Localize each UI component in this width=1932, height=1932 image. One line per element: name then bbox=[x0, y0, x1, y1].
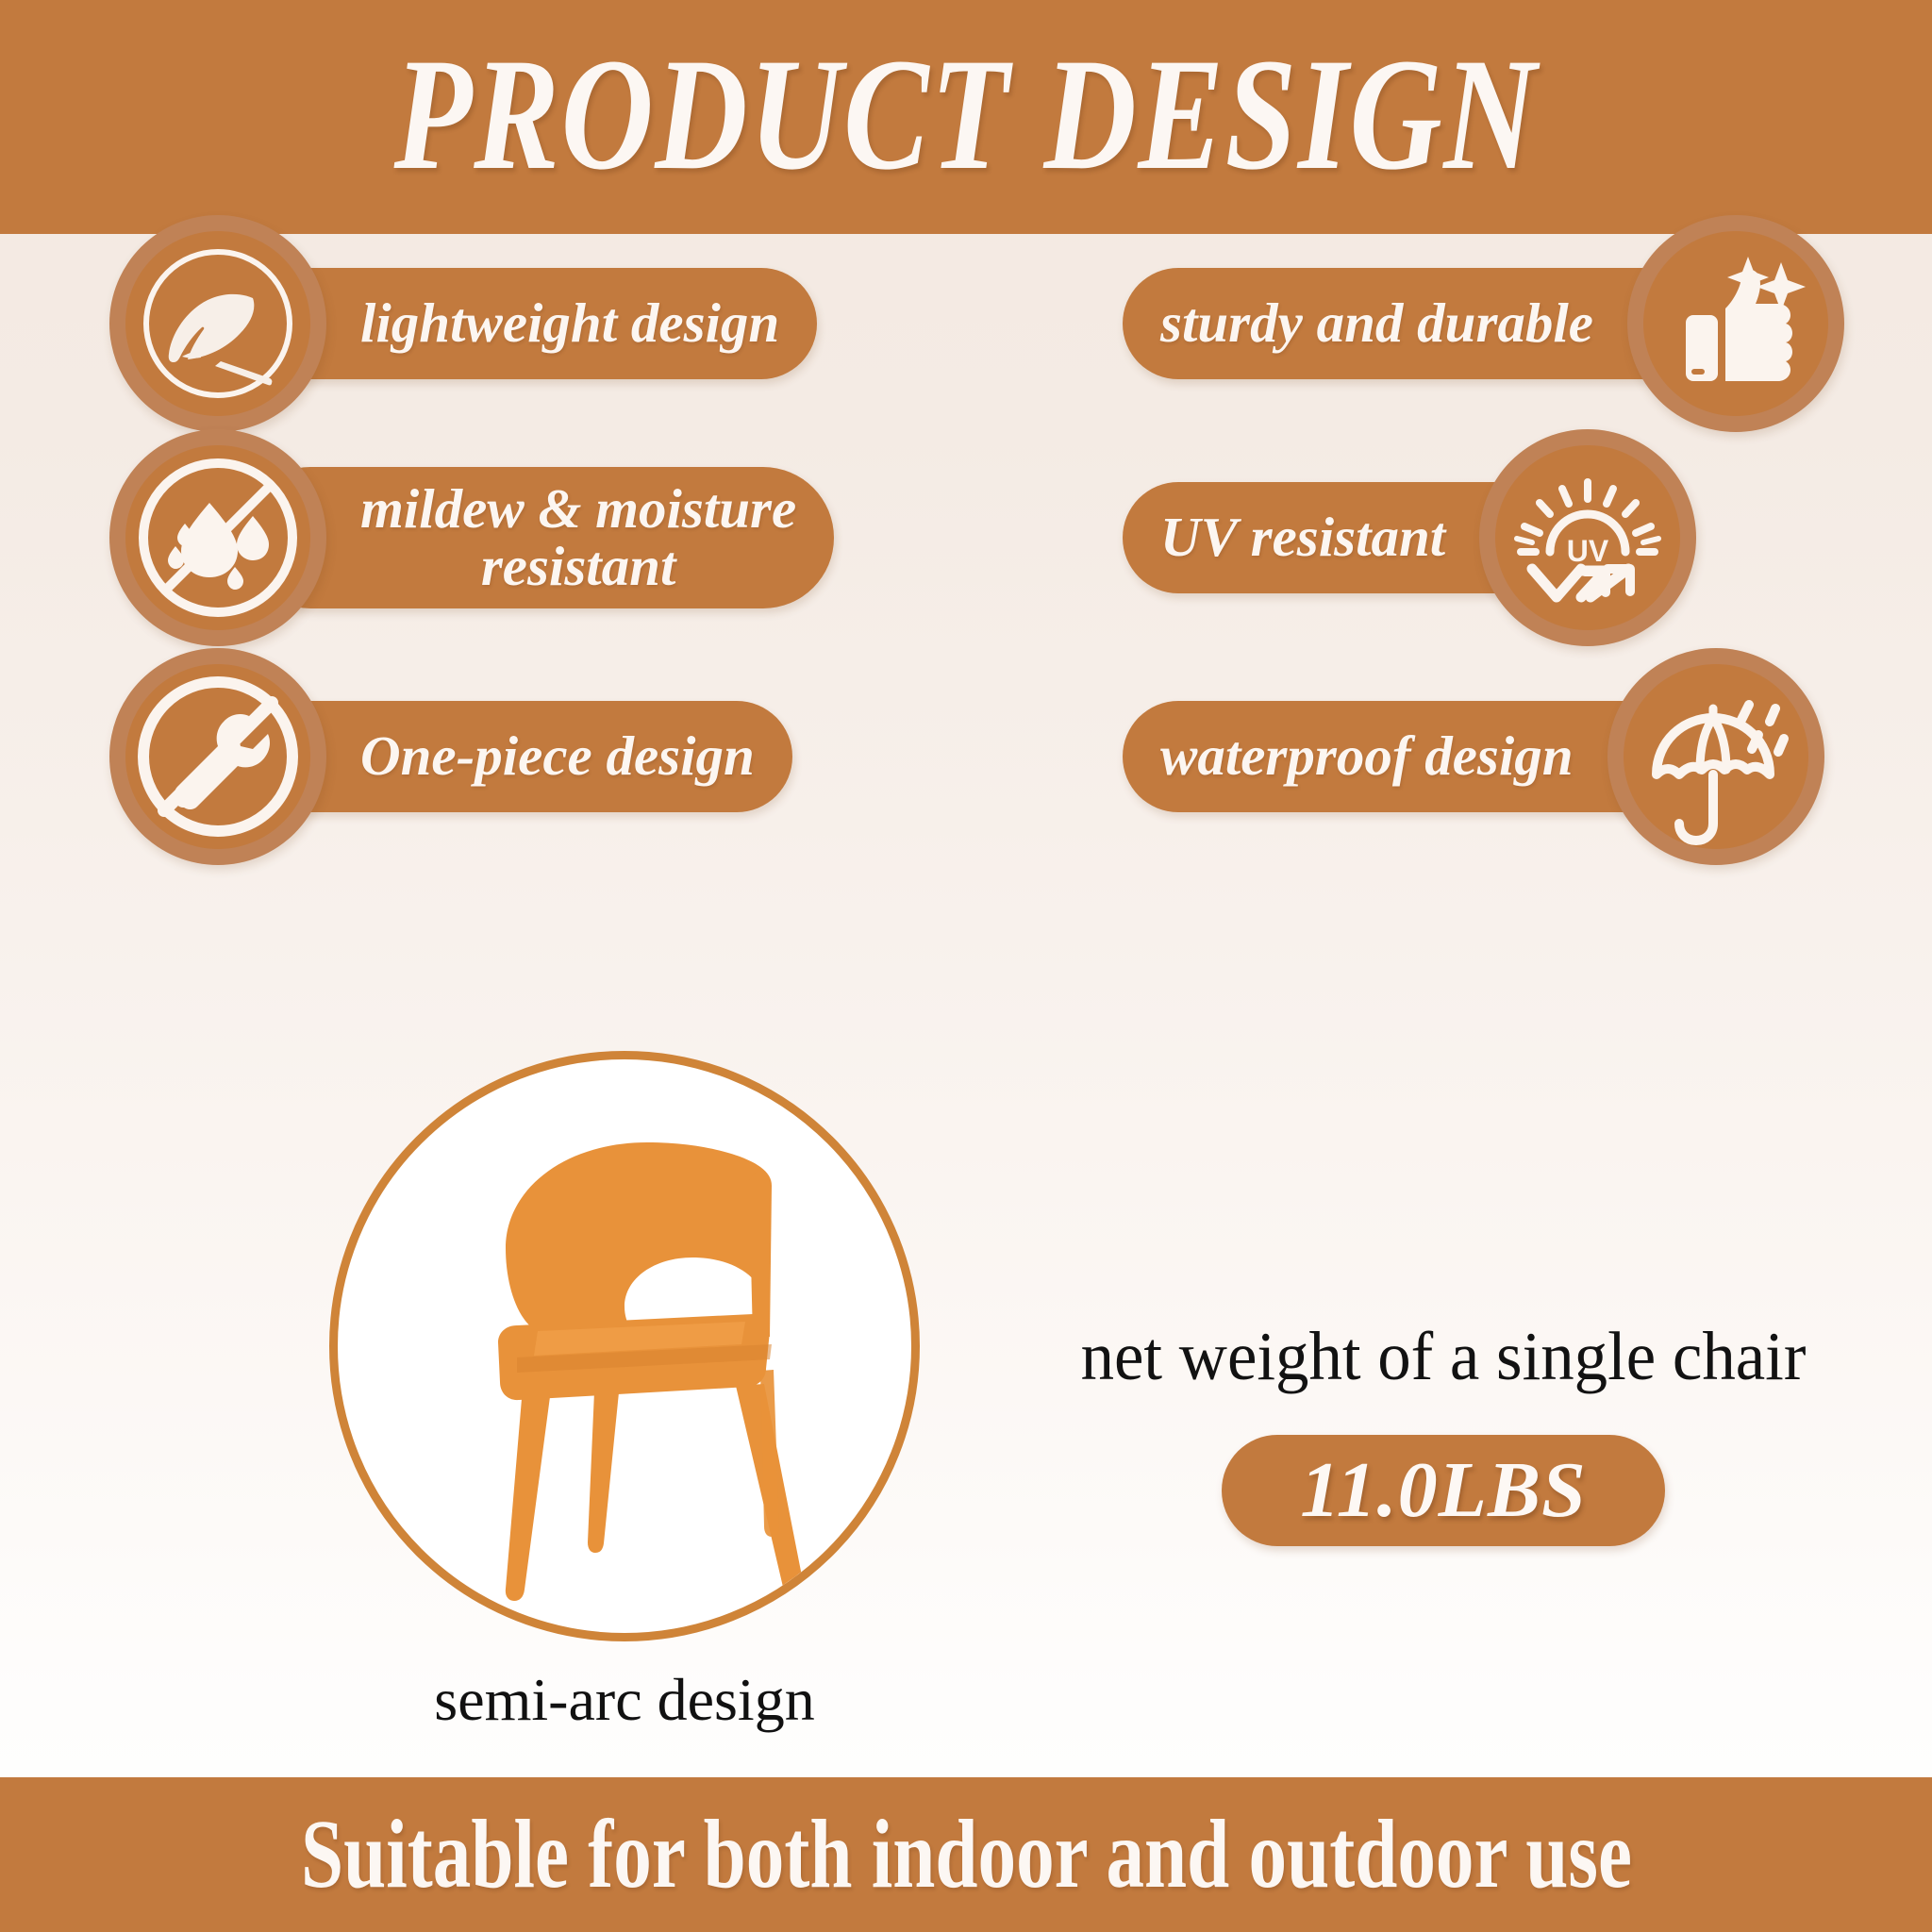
feature-mildew-moisture-resistant[interactable]: mildew & moisture resistant bbox=[109, 429, 834, 646]
orange-plastic-chair bbox=[379, 1088, 870, 1616]
uv-sun-icon: UV bbox=[1479, 429, 1696, 646]
net-weight-value: 11.0LBS bbox=[1300, 1451, 1586, 1530]
net-weight-caption: net weight of a single chair bbox=[1013, 1321, 1874, 1393]
infographic-page: PRODUCT DESIGN lightweight design bbox=[0, 0, 1932, 1932]
feature-label: mildew & moisture resistant bbox=[360, 480, 796, 596]
header-banner: PRODUCT DESIGN bbox=[0, 0, 1932, 234]
feature-sturdy-and-durable[interactable]: sturdy and durable bbox=[1123, 215, 1844, 432]
product-image-caption: semi-arc design bbox=[329, 1670, 920, 1730]
uv-label: UV bbox=[1567, 534, 1609, 568]
no-moisture-icon bbox=[109, 429, 326, 646]
feature-label: waterproof design bbox=[1160, 727, 1574, 785]
feature-waterproof-design[interactable]: waterproof design bbox=[1123, 648, 1824, 865]
footer-tagline: Suitable for both indoor and outdoor use bbox=[301, 1806, 1632, 1904]
feature-pill-sturdy[interactable]: sturdy and durable bbox=[1123, 268, 1714, 379]
feather-icon bbox=[109, 215, 326, 432]
feature-pill-mildew[interactable]: mildew & moisture resistant bbox=[240, 467, 834, 608]
feature-one-piece-design[interactable]: One-piece design bbox=[109, 648, 792, 865]
net-weight-block: net weight of a single chair 11.0LBS bbox=[1000, 1321, 1887, 1546]
feature-label: One-piece design bbox=[360, 727, 755, 785]
feature-uv-resistant[interactable]: UV UV resistant bbox=[1123, 429, 1696, 646]
page-title: PRODUCT DESIGN bbox=[394, 34, 1539, 194]
feature-lightweight-design[interactable]: lightweight design bbox=[109, 215, 817, 432]
net-weight-badge: 11.0LBS bbox=[1222, 1435, 1665, 1546]
footer-banner: Suitable for both indoor and outdoor use bbox=[0, 1777, 1932, 1932]
product-image-circle bbox=[329, 1051, 920, 1641]
feature-label: sturdy and durable bbox=[1160, 294, 1593, 352]
feature-label: lightweight design bbox=[360, 294, 779, 352]
thumbs-up-sparkle-icon bbox=[1627, 215, 1844, 432]
feature-label: UV resistant bbox=[1160, 508, 1445, 566]
no-tools-icon bbox=[109, 648, 326, 865]
umbrella-rain-icon bbox=[1607, 648, 1824, 865]
